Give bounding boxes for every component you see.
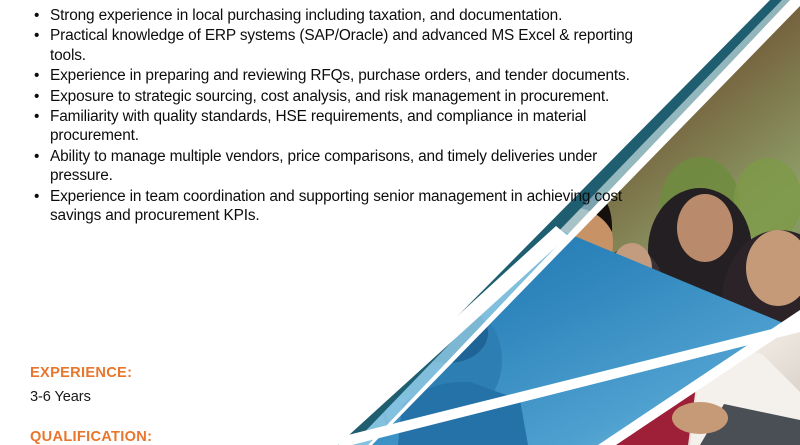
- white-divider-horizontal: [336, 322, 800, 445]
- experience-heading: EXPERIENCE:: [30, 364, 132, 382]
- job-advertisement-poster: • Strong experience in local purchasing …: [0, 0, 800, 445]
- requirement-item: • Experience in preparing and reviewing …: [0, 66, 660, 85]
- requirement-text: Familiarity with quality standards, HSE …: [50, 108, 586, 144]
- bullet-icon: •: [34, 6, 39, 25]
- requirement-text: Exposure to strategic sourcing, cost ana…: [50, 88, 609, 105]
- requirement-item: • Strong experience in local purchasing …: [0, 6, 660, 25]
- laptop-user-panel: [600, 300, 800, 445]
- bullet-icon: •: [34, 26, 39, 45]
- white-divider-lower: [316, 226, 568, 445]
- bullet-icon: •: [34, 87, 39, 106]
- requirement-item: • Exposure to strategic sourcing, cost a…: [0, 87, 660, 106]
- requirement-item: • Ability to manage multiple vendors, pr…: [0, 147, 660, 186]
- bullet-icon: •: [34, 187, 39, 206]
- requirement-text: Experience in team coordination and supp…: [50, 188, 622, 224]
- requirement-text: Practical knowledge of ERP systems (SAP/…: [50, 27, 633, 63]
- requirement-text: Experience in preparing and reviewing RF…: [50, 67, 630, 84]
- experience-value: 3-6 Years: [30, 388, 132, 406]
- experience-block: EXPERIENCE: 3-6 Years: [30, 364, 132, 406]
- blue-tinted-panel: [330, 220, 800, 445]
- bullet-icon: •: [34, 107, 39, 126]
- requirement-text: Ability to manage multiple vendors, pric…: [50, 148, 597, 184]
- requirement-item: • Experience in team coordination and su…: [0, 187, 660, 226]
- requirement-item: • Practical knowledge of ERP systems (SA…: [0, 26, 660, 65]
- requirement-text: Strong experience in local purchasing in…: [50, 7, 562, 24]
- bullet-icon: •: [34, 66, 39, 85]
- white-divider-right: [598, 310, 800, 445]
- requirement-item: • Familiarity with quality standards, HS…: [0, 107, 660, 146]
- qualification-heading: QUALIFICATION:: [30, 428, 152, 445]
- bullet-icon: •: [34, 147, 39, 166]
- requirements-list: • Strong experience in local purchasing …: [0, 0, 660, 226]
- qualification-block: QUALIFICATION:: [30, 428, 152, 445]
